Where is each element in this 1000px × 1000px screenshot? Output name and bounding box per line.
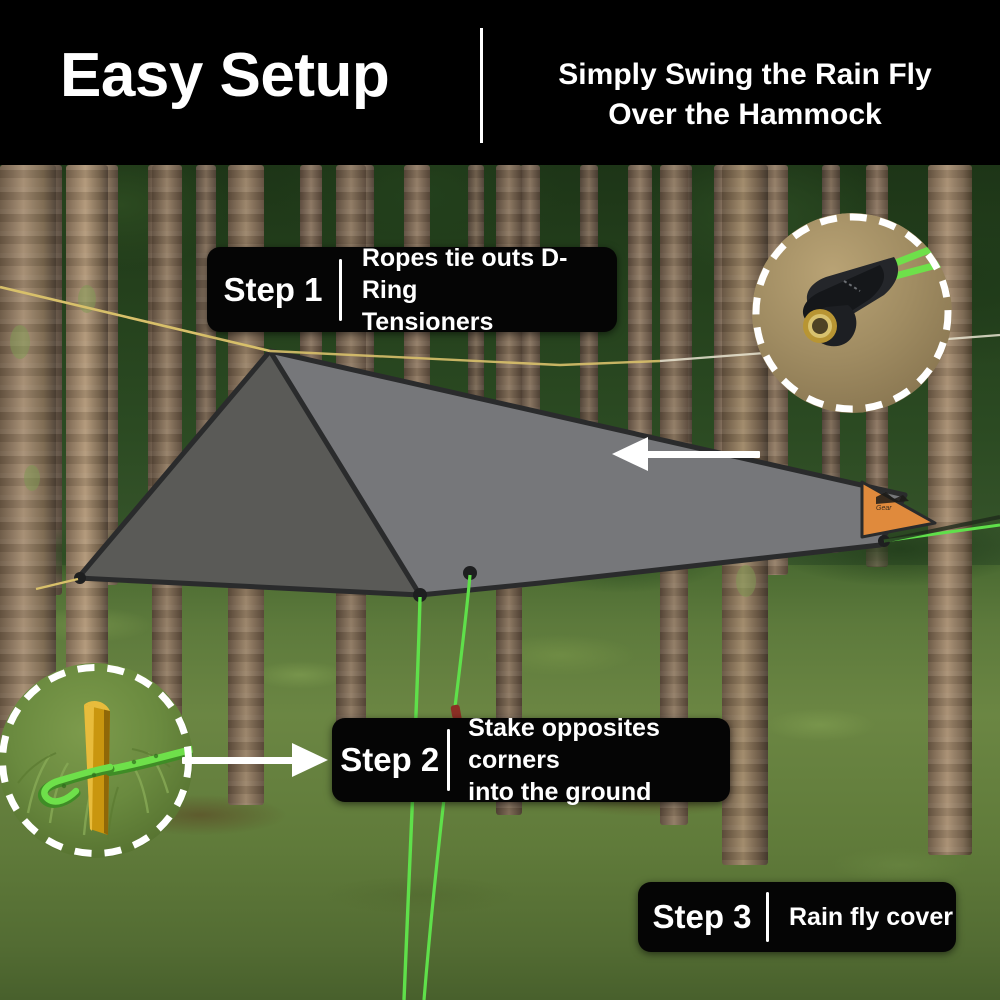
d-ring-tensioner-inset [752, 213, 952, 413]
page-title: Easy Setup [60, 38, 460, 114]
infographic-page: Easy Setup Simply Swing the Rain Fly Ove… [0, 0, 1000, 1000]
product-photo-scene: Gear [0, 165, 1000, 1000]
tent-stake-inset [0, 663, 193, 858]
step-1-description: Ropes tie outs D-Ring Tensioners [342, 242, 617, 338]
header-subtitle-line1: Simply Swing the Rain Fly [558, 58, 931, 91]
header-subtitle: Simply Swing the Rain Fly Over the Hammo… [510, 55, 980, 135]
step-3-label-box[interactable]: Step 3 Rain fly cover [638, 882, 956, 952]
step-3-description: Rain fly cover [769, 901, 953, 933]
step-1-arrow [612, 437, 760, 471]
header-banner: Easy Setup Simply Swing the Rain Fly Ove… [0, 0, 1000, 165]
header-divider [480, 28, 483, 143]
tieout-rope-left [36, 579, 78, 589]
tieout-rope-right [884, 517, 1000, 541]
inset-dashed-border [0, 663, 193, 858]
step-1-tag: Step 1 [207, 271, 339, 309]
step-2-description: Stake opposites corners into the ground [450, 712, 730, 808]
ridgeline-rope [270, 351, 660, 365]
step-1-description-line1: Ropes tie outs D-Ring [362, 242, 617, 306]
step-1-label-box[interactable]: Step 1 Ropes tie outs D-Ring Tensioners [207, 247, 617, 332]
step-3-tag: Step 3 [638, 898, 766, 936]
step-2-label-box[interactable]: Step 2 Stake opposites corners into the … [332, 718, 730, 802]
header-subtitle-line2: Over the Hammock [608, 98, 881, 131]
inset-dashed-border [752, 213, 952, 413]
step-2-description-line2: into the ground [468, 776, 730, 808]
step-2-tag: Step 2 [332, 741, 447, 779]
step-2-arrow [182, 743, 328, 777]
step-2-description-line1: Stake opposites corners [468, 712, 730, 776]
step-3-description-line1: Rain fly cover [789, 901, 953, 933]
step-1-description-line2: Tensioners [362, 306, 617, 338]
